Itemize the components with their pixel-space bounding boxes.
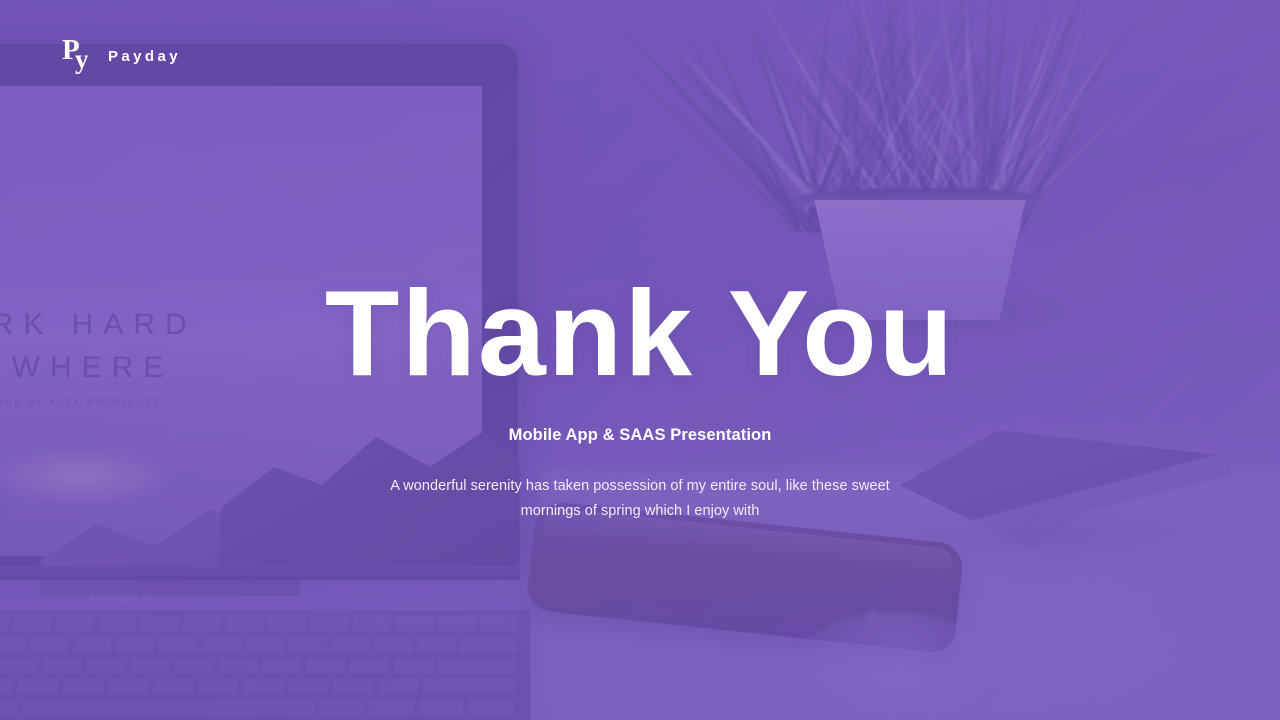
brand-name: Payday [108, 48, 181, 65]
slide-subtitle: Mobile App & SAAS Presentation [0, 426, 1280, 445]
payday-monogram-icon: P y [62, 38, 96, 74]
slide-body-text: A wonderful serenity has taken possessio… [360, 474, 920, 524]
logo-letter-y: y [75, 46, 89, 73]
thank-you-slide: WORK HARD ANYWHERE IMAGE BY ALEX RODRIGU… [0, 0, 1280, 720]
brand-logo[interactable]: P y Payday [62, 38, 181, 74]
page-title: Thank You [0, 272, 1280, 394]
